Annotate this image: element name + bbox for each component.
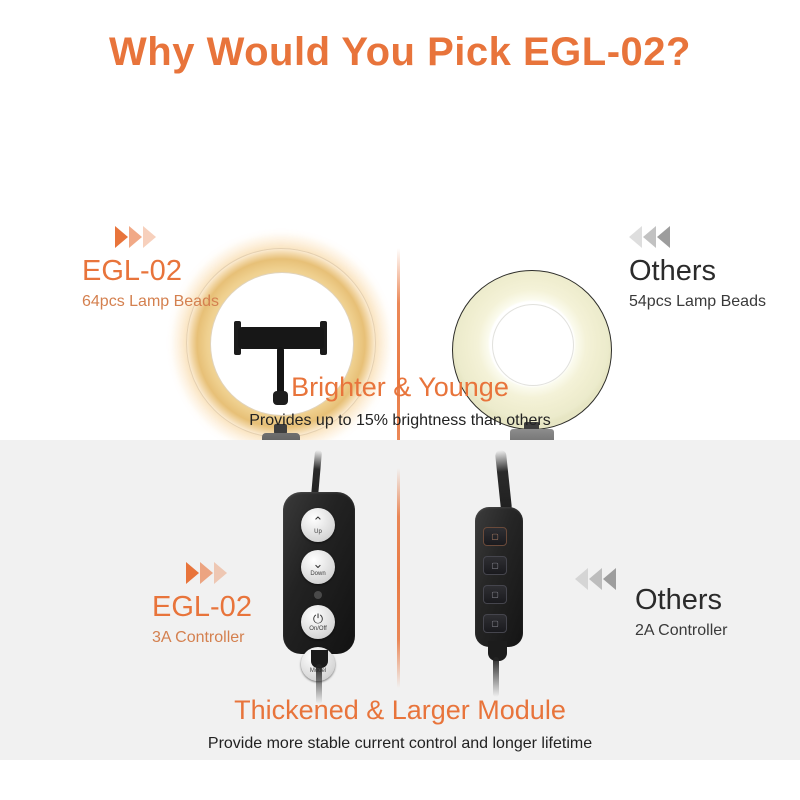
vertical-divider-bottom	[397, 468, 400, 688]
infographic-page: Why Would You Pick EGL-02?	[0, 0, 800, 800]
chevron-left-icon	[603, 568, 616, 590]
egl02-label-top: EGL-02 64pcs Lamp Beads	[82, 256, 219, 311]
brightness-icon: ▢	[491, 561, 499, 570]
product-name: Others	[635, 585, 728, 617]
bottom-comparison-section: ⌃ Up ⌄ Down ⏻ On/Off ◉ Model	[0, 440, 800, 760]
caption-headline: Thickened & Larger Module	[0, 695, 800, 726]
arrow-left-others-bottom	[575, 568, 616, 590]
controller-button-power[interactable]: ▢	[483, 527, 507, 546]
chevron-right-icon	[143, 226, 156, 248]
button-label: Down	[310, 571, 325, 577]
product-name: EGL-02	[152, 592, 252, 624]
chevron-left-icon	[657, 226, 670, 248]
cable-upper	[495, 450, 512, 513]
caption-subline: Provides up to 15% brightness than other…	[0, 412, 800, 430]
chevron-right-icon	[214, 562, 227, 584]
product-name: EGL-02	[82, 256, 219, 288]
product-name: Others	[629, 256, 766, 288]
controller-button-mode[interactable]: ▢	[483, 585, 507, 604]
cable-lower	[493, 657, 499, 697]
chevron-left-icon	[643, 226, 656, 248]
footer-spacer	[0, 760, 800, 800]
egl02-label-bottom: EGL-02 3A Controller	[152, 592, 252, 647]
product-spec: 2A Controller	[635, 622, 728, 640]
mode-icon: ▢	[491, 590, 499, 599]
button-label: Up	[314, 529, 322, 535]
arrow-left-others-top	[629, 226, 670, 248]
power-icon: ⏻	[313, 612, 323, 625]
page-title: Why Would You Pick EGL-02?	[0, 30, 800, 75]
color-icon: ▢	[491, 619, 499, 628]
chevron-right-icon	[186, 562, 199, 584]
arrow-right-egl02-bottom	[186, 562, 227, 584]
product-spec: 54pcs Lamp Beads	[629, 293, 766, 311]
caption-headline: Brighter & Younge	[0, 372, 800, 403]
controller-button-power[interactable]: ⏻ On/Off	[301, 605, 335, 639]
product-spec: 3A Controller	[152, 629, 252, 647]
chevron-right-icon	[200, 562, 213, 584]
caption-subline: Provide more stable current control and …	[0, 735, 800, 753]
others-label-top: Others 54pcs Lamp Beads	[629, 256, 766, 311]
controller-button-up[interactable]: ⌃ Up	[301, 508, 335, 542]
led-indicator	[314, 591, 322, 599]
phone-holder-clamp	[238, 327, 324, 349]
product-spec: 64pcs Lamp Beads	[82, 293, 219, 311]
chevron-right-icon	[115, 226, 128, 248]
controller-button-color[interactable]: ▢	[483, 614, 507, 633]
top-caption: Brighter & Younge Provides up to 15% bri…	[0, 372, 800, 430]
egl02-controller-image: ⌃ Up ⌄ Down ⏻ On/Off ◉ Model	[283, 450, 393, 680]
controller-button-down[interactable]: ⌄ Down	[301, 550, 335, 584]
chevron-left-icon	[575, 568, 588, 590]
others-label-bottom: Others 2A Controller	[635, 585, 728, 640]
chevron-left-icon	[589, 568, 602, 590]
chevron-right-icon	[129, 226, 142, 248]
cable-upper	[311, 450, 322, 498]
bottom-caption: Thickened & Larger Module Provide more s…	[0, 695, 800, 753]
others-controller-image: ▢ ▢ ▢ ▢	[468, 455, 568, 675]
chevron-down-icon: ⌄	[313, 557, 324, 570]
button-label: On/Off	[309, 626, 327, 632]
power-icon: ▢	[491, 532, 499, 541]
chevron-left-icon	[629, 226, 642, 248]
controller-button-brightness[interactable]: ▢	[483, 556, 507, 575]
chevron-up-icon: ⌃	[313, 515, 324, 528]
arrow-right-egl02-top	[115, 226, 156, 248]
